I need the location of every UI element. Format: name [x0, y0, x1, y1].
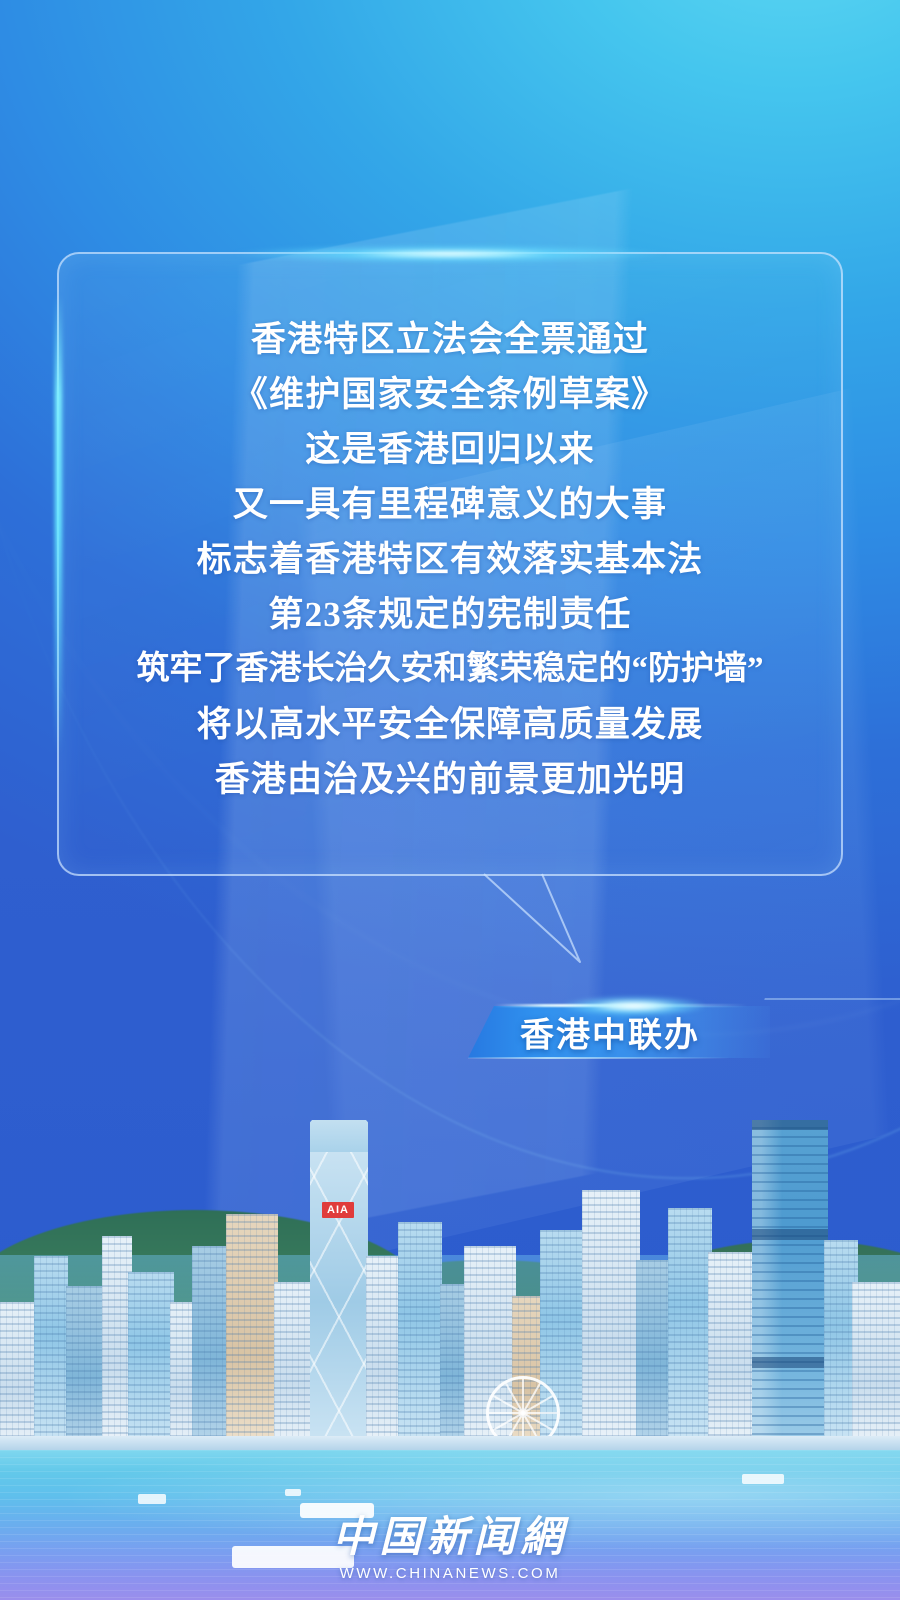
source-badge: 香港中联办 [468, 1006, 770, 1058]
poster-root: AIA [0, 0, 900, 1600]
quote-line-6: 第23条规定的宪制责任 [73, 587, 827, 642]
quote-line-9: 香港由治及兴的前景更加光明 [73, 752, 827, 807]
chinanews-logo-cn: 中国新闻網 [0, 1513, 900, 1563]
building [192, 1246, 230, 1452]
building [0, 1302, 38, 1452]
quote-line-1: 香港特区立法会全票通过 [73, 312, 827, 367]
building [636, 1260, 672, 1452]
two-ifc-band [752, 1229, 828, 1240]
quote-line-3: 这是香港回归以来 [73, 422, 827, 477]
badge-label: 香港中联办 [520, 1008, 700, 1057]
bank-of-china-tower-lattice [310, 1152, 368, 1452]
quote-callout-bubble: 香港特区立法会全票通过 《维护国家安全条例草案》 这是香港回归以来 又一具有里程… [57, 252, 843, 876]
two-ifc-tower [752, 1120, 828, 1452]
quote-line-2: 《维护国家安全条例草案》 [73, 367, 827, 422]
building [852, 1282, 900, 1452]
small-boat [138, 1494, 166, 1504]
building [668, 1208, 712, 1452]
small-boat [285, 1489, 301, 1496]
two-ifc-band [752, 1120, 828, 1130]
building [582, 1190, 640, 1452]
quote-line-4: 又一具有里程碑意义的大事 [73, 477, 827, 532]
badge-bottom-highlight [468, 1057, 730, 1059]
building [708, 1252, 754, 1452]
quote-text-block: 香港特区立法会全票通过 《维护国家安全条例草案》 这是香港回归以来 又一具有里程… [59, 312, 841, 807]
building [274, 1282, 314, 1452]
building [226, 1214, 278, 1452]
building [366, 1256, 402, 1452]
building [66, 1286, 106, 1452]
two-ifc-band [752, 1357, 828, 1368]
quote-line-8: 将以高水平安全保障高质量发展 [73, 697, 827, 752]
building [398, 1222, 442, 1452]
chinanews-logo-url: WWW.CHINANEWS.COM [0, 1565, 900, 1582]
small-boat [742, 1474, 784, 1484]
building [128, 1272, 174, 1452]
quote-line-7: 筑牢了香港长治久安和繁荣稳定的“防护墙” [73, 642, 827, 697]
bank-of-china-tower-crown [310, 1120, 368, 1152]
building [34, 1256, 68, 1452]
aia-sign: AIA [322, 1202, 354, 1218]
chinanews-logo: 中国新闻網 WWW.CHINANEWS.COM [0, 1513, 900, 1582]
quote-line-5: 标志着香港特区有效落实基本法 [73, 532, 827, 587]
